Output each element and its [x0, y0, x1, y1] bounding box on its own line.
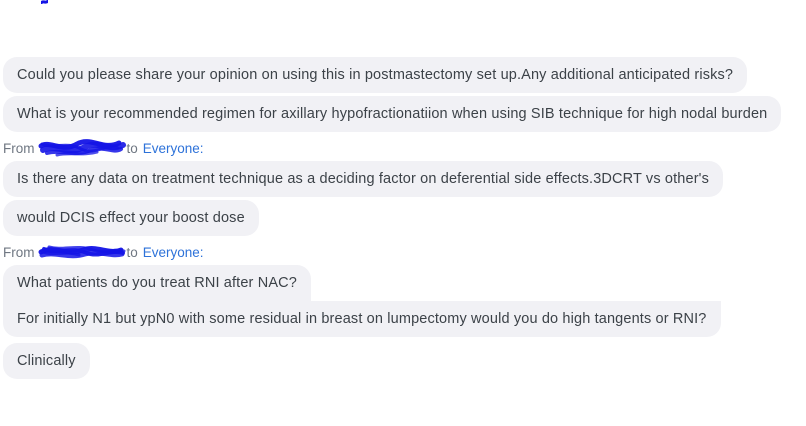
chat-message-row: Could you please share your opinion on u…	[0, 57, 806, 93]
message-stream: Could you please share your opinion on u…	[0, 0, 806, 379]
message-sender-header: From to Everyone:	[0, 244, 806, 261]
chat-message-row: What is your recommended regimen for axi…	[0, 96, 806, 132]
to-label: to	[127, 244, 138, 261]
to-label: to	[127, 140, 138, 157]
chat-message-bubble[interactable]: Clinically	[3, 343, 90, 379]
recipient-label: Everyone:	[143, 140, 204, 157]
recipient-label: Everyone:	[143, 244, 204, 261]
chat-message-bubble[interactable]: What is your recommended regimen for axi…	[3, 96, 781, 132]
redacted-sender-name	[39, 140, 122, 157]
chat-message-row: Clinically	[0, 343, 806, 379]
chat-message-bubble[interactable]: would DCIS effect your boost dose	[3, 200, 259, 236]
chat-message-row: Is there any data on treatment technique…	[0, 161, 806, 197]
chat-message-row: What patients do you treat RNI after NAC…	[0, 265, 806, 301]
chat-message-bubble[interactable]: Is there any data on treatment technique…	[3, 161, 723, 197]
chat-message-row: would DCIS effect your boost dose	[0, 200, 806, 236]
redacted-sender-name	[39, 244, 122, 261]
chat-message-row: For initially N1 but ypN0 with some resi…	[0, 301, 806, 337]
from-label: From	[3, 140, 35, 157]
chat-message-bubble[interactable]: Could you please share your opinion on u…	[3, 57, 747, 93]
chat-panel: Could you please share your opinion on u…	[0, 0, 806, 426]
from-label: From	[3, 244, 35, 261]
message-sender-header: From to Everyone:	[0, 140, 806, 157]
chat-message-bubble[interactable]: What patients do you treat RNI after NAC…	[3, 265, 311, 301]
chat-message-bubble[interactable]: For initially N1 but ypN0 with some resi…	[3, 301, 721, 337]
